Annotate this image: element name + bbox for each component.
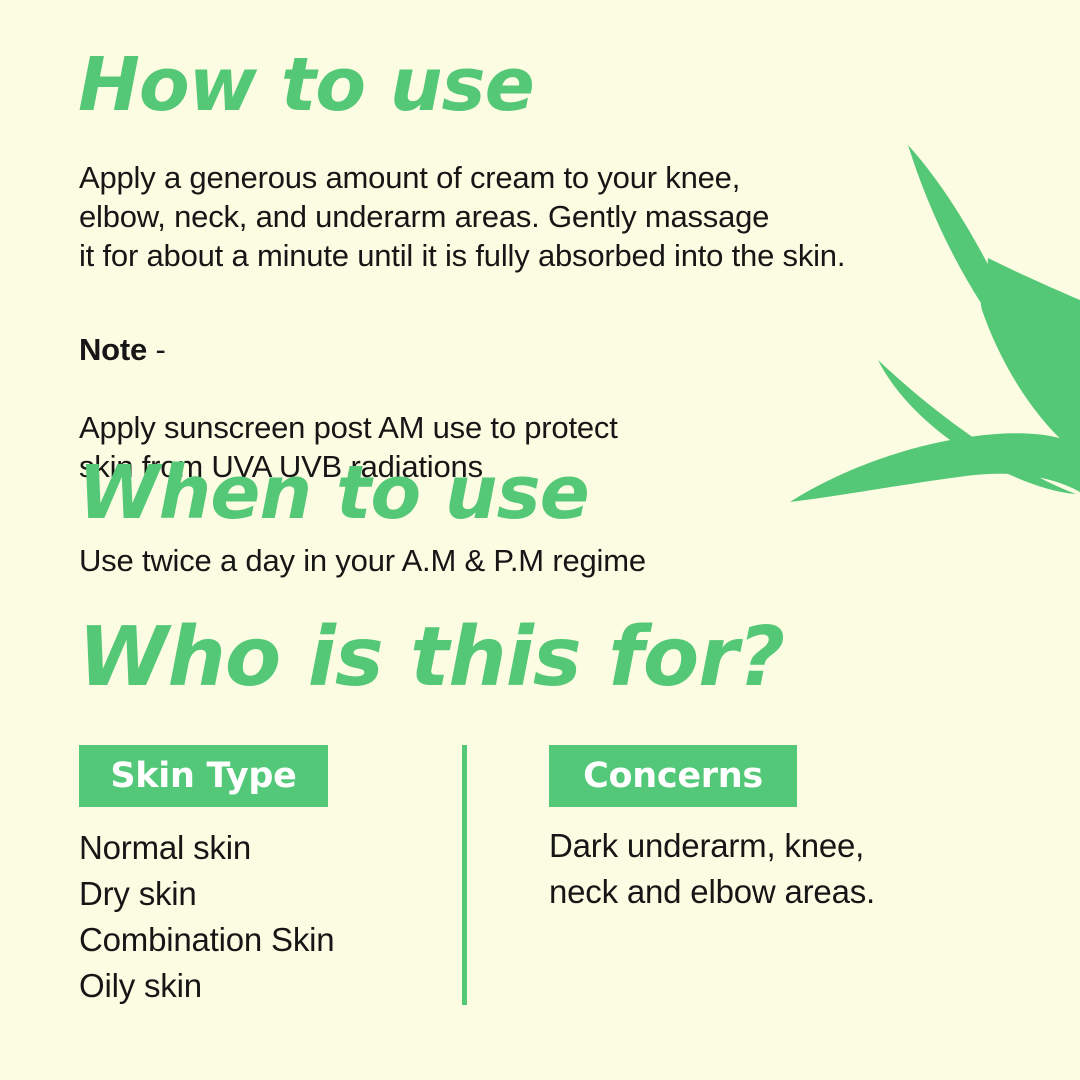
concerns-text: Dark underarm, knee, neck and elbow area… (549, 823, 875, 915)
column-divider (462, 745, 467, 1005)
badge-skin-type: Skin Type (79, 745, 328, 807)
heading-when-to-use: When to use (78, 456, 589, 530)
heading-how-to-use: How to use (78, 48, 534, 122)
poster-canvas: How to use Apply a generous amount of cr… (0, 0, 1080, 1080)
list-item: Combination Skin (79, 917, 334, 963)
list-item: Normal skin (79, 825, 334, 871)
list-item: Oily skin (79, 963, 334, 1009)
badge-concerns: Concerns (549, 745, 797, 807)
note-heading-line: Note - (79, 330, 618, 369)
skin-type-list: Normal skin Dry skin Combination Skin Oi… (79, 825, 334, 1009)
audience-columns: Skin Type Normal skin Dry skin Combinati… (0, 745, 1080, 1035)
how-to-use-paragraph: Apply a generous amount of cream to your… (79, 158, 845, 275)
when-to-use-subtitle: Use twice a day in your A.M & P.M regime (79, 541, 646, 580)
leaf-cluster-icon (780, 0, 1080, 560)
note-label: Note (79, 332, 147, 367)
note-dash: - (147, 332, 166, 367)
list-item: Dry skin (79, 871, 334, 917)
heading-who-is-this-for: Who is this for? (78, 617, 784, 699)
